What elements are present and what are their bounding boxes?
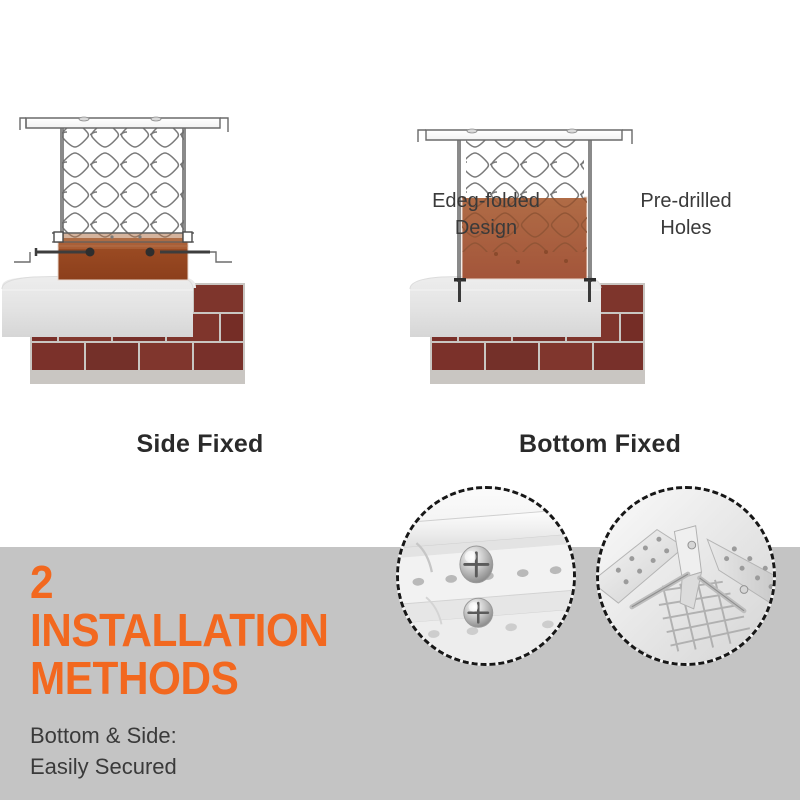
- infographic-canvas: Side Fixed Bottom Fixed 2 INSTALLATION M…: [0, 0, 800, 800]
- headline-block: 2 INSTALLATION METHODS Bottom & Side: Ea…: [30, 558, 370, 782]
- photo-pre-drilled-holes: [599, 489, 773, 663]
- detail-circle-edge-folded: [396, 486, 576, 666]
- headline-subtext: Bottom & Side: Easily Secured: [30, 720, 370, 782]
- diamond-mesh-screen-left: [62, 128, 184, 238]
- anchor-screw-shaft: [458, 280, 461, 302]
- headline-line-1: 2 INSTALLATION: [30, 558, 343, 654]
- bracket-clamp: [54, 232, 63, 242]
- caption-line-2: Design: [396, 215, 576, 242]
- rivet: [688, 541, 696, 549]
- screw-head: [86, 248, 95, 257]
- dashed-circle-border: [596, 486, 776, 666]
- subtext-line-1: Bottom & Side:: [30, 720, 370, 751]
- caption-edge-folded: Edeg-folded Design: [396, 188, 576, 242]
- caption-line-2: Holes: [596, 215, 776, 242]
- detail-circle-pre-drilled: [596, 486, 776, 666]
- photo-edge-folded-design: [399, 489, 573, 663]
- dashed-circle-border: [396, 486, 576, 666]
- phillips-screw: [464, 598, 493, 627]
- diagram-side-fixed: [0, 0, 400, 470]
- rivet: [740, 586, 748, 594]
- caption-line-1: Edeg-folded: [396, 188, 576, 215]
- lid-rivet: [79, 117, 89, 121]
- concrete-crown-right: [410, 274, 601, 337]
- side-fixed-illustration: [0, 0, 400, 470]
- lid-rivet: [467, 129, 477, 133]
- lid-rivet: [151, 117, 161, 121]
- caption-line-1: Pre-drilled: [596, 188, 776, 215]
- bracket-clamp: [183, 232, 192, 242]
- caption-pre-drilled: Pre-drilled Holes: [596, 188, 776, 242]
- screw-head: [146, 248, 155, 257]
- headline-line-2: METHODS: [30, 654, 343, 702]
- lid-rivet: [567, 129, 577, 133]
- phillips-screw: [460, 546, 493, 583]
- label-side-fixed: Side Fixed: [0, 430, 400, 459]
- concrete-crown-left: [2, 274, 196, 337]
- anchor-screw-shaft: [588, 280, 591, 302]
- subtext-line-2: Easily Secured: [30, 751, 370, 782]
- label-bottom-fixed: Bottom Fixed: [400, 430, 800, 459]
